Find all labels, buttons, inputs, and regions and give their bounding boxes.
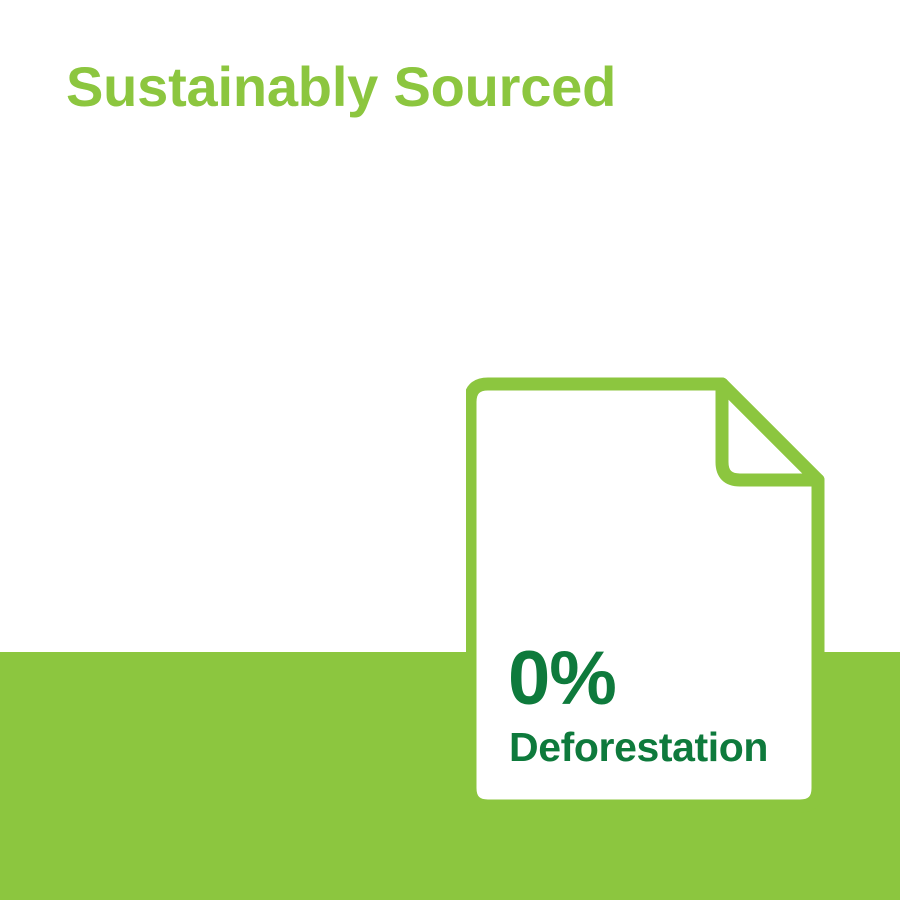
body-copy: We are making a positive impact on air, … bbox=[66, 168, 496, 411]
sustainably-sourced-graphic: Sustainably Sourced We are making a posi… bbox=[0, 0, 900, 900]
body-copy-line-1: We are making a bbox=[66, 168, 496, 229]
body-copy-line-3: on air, earth, bbox=[66, 289, 496, 350]
body-copy-line-2: positive impact bbox=[66, 229, 496, 290]
bottom-hairline-rule bbox=[0, 896, 900, 900]
stat-label: Deforestation bbox=[509, 727, 768, 768]
page-title: Sustainably Sourced bbox=[66, 58, 616, 117]
body-copy-line-4: and lives. bbox=[66, 350, 496, 411]
stat-value: 0% bbox=[508, 641, 616, 717]
